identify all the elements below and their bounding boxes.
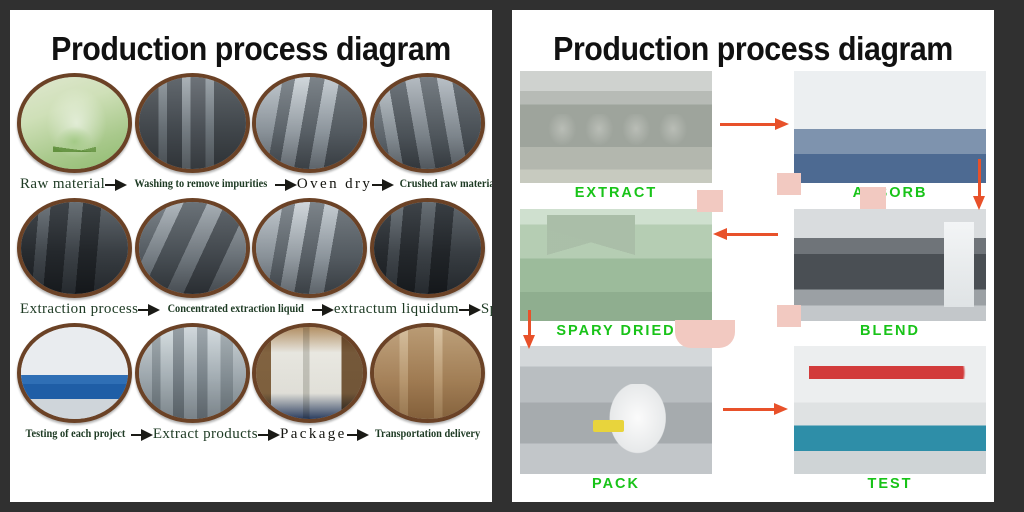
process-step-extract-products[interactable]	[134, 323, 252, 423]
process-row-2	[16, 198, 486, 298]
caption-crushed: Crushed raw materials	[400, 179, 492, 191]
caption-row-3: Testing of each project Extract products…	[16, 427, 486, 442]
concentration-tanks-photo	[139, 202, 246, 294]
caption-absorb: ABSORB	[794, 183, 986, 207]
evaporator-photo	[256, 202, 363, 294]
oval-frame	[135, 73, 250, 173]
arrow-spary-to-pack	[528, 310, 531, 336]
extraction-plant-photo	[21, 202, 128, 294]
arrow-right-icon	[258, 428, 280, 442]
absorption-columns-photo	[794, 71, 986, 183]
arrow-absorb-to-blend	[978, 159, 981, 197]
caption-spray-drying: Spray drying	[481, 302, 492, 317]
oval-frame	[17, 73, 132, 173]
arrow-extract-to-absorb	[720, 123, 776, 126]
oval-frame	[252, 73, 367, 173]
right-step-extract[interactable]: EXTRACT	[520, 71, 712, 207]
arrow-right-icon	[459, 303, 481, 317]
caption-extract-products: Extract products	[153, 427, 258, 442]
process-step-transportation[interactable]	[369, 323, 487, 423]
arrow-pack-to-test	[723, 408, 775, 411]
caption-row-2: Extraction process Concentrated extracti…	[16, 302, 486, 317]
oval-frame	[135, 198, 250, 298]
caption-transportation: Transportation delivery	[375, 429, 480, 441]
oven-dryer-photo	[256, 77, 363, 169]
process-step-extraction[interactable]	[16, 198, 134, 298]
right-step-blend[interactable]: BLEND	[794, 209, 986, 345]
laboratory-bench-photo	[21, 327, 128, 419]
oval-frame	[252, 198, 367, 298]
caption-extraction-process: Extraction process	[20, 302, 138, 317]
crushing-line-photo	[374, 77, 481, 169]
arrow-right-icon	[275, 178, 297, 192]
process-row-3	[16, 323, 486, 423]
product-drums-photo	[139, 327, 246, 419]
oval-frame	[135, 323, 250, 423]
spray-dryer-tower-photo	[520, 209, 712, 321]
process-step-washing[interactable]	[134, 73, 252, 173]
palletized-cartons-photo	[374, 327, 481, 419]
right-row-2: SPARY DRIED BLEND	[520, 209, 986, 345]
right-panel-title: Production process diagram	[531, 10, 974, 65]
process-step-crushed[interactable]	[369, 73, 487, 173]
oval-frame	[370, 73, 485, 173]
packing-operator-photo	[520, 346, 712, 474]
caption-concentrated-liquid: Concentrated extraction liquid	[168, 304, 304, 316]
caption-extract: EXTRACT	[520, 183, 712, 207]
process-step-concentrated[interactable]	[134, 198, 252, 298]
residual-block	[777, 173, 801, 195]
quality-lab-photo	[794, 346, 986, 474]
caption-row-1: Raw material Washing to remove impuritie…	[16, 177, 486, 192]
panel-divider	[492, 0, 512, 512]
washing-tanks-photo	[139, 77, 246, 169]
arrow-right-icon	[347, 428, 369, 442]
right-process-panel: Production process diagram EXTRACT ABSOR…	[512, 10, 994, 502]
right-photo-grid: EXTRACT ABSORB SPARY DRIED BLEND	[512, 65, 994, 498]
left-oval-grid: Raw material Washing to remove impuritie…	[10, 65, 492, 442]
right-row-1: EXTRACT ABSORB	[520, 71, 986, 207]
packaging-bags-photo	[256, 327, 363, 419]
residual-block	[777, 305, 801, 327]
left-panel-title: Production process diagram	[29, 10, 472, 65]
arrow-right-icon	[372, 178, 394, 192]
residual-block	[675, 320, 735, 348]
process-step-oven-dry[interactable]	[251, 73, 369, 173]
oval-frame	[17, 323, 132, 423]
spray-dryer-photo	[374, 202, 481, 294]
caption-test: TEST	[794, 474, 986, 498]
process-step-raw-material[interactable]	[16, 73, 134, 173]
oval-frame	[252, 323, 367, 423]
oval-frame	[370, 323, 485, 423]
process-step-extractum[interactable]	[251, 198, 369, 298]
residual-block	[697, 190, 723, 212]
process-step-spray-drying[interactable]	[369, 198, 487, 298]
caption-raw-material: Raw material	[20, 177, 105, 192]
arrow-right-icon	[105, 178, 127, 192]
caption-washing: Washing to remove impurities	[135, 179, 268, 191]
arrow-blend-to-spary	[726, 233, 778, 236]
process-step-testing[interactable]	[16, 323, 134, 423]
right-step-pack[interactable]: PACK	[520, 346, 712, 498]
caption-testing: Testing of each project	[26, 429, 126, 441]
screenshot-root: Production process diagram	[0, 0, 1024, 512]
arrow-right-icon	[138, 303, 160, 317]
arrow-right-icon	[312, 303, 334, 317]
caption-oven-dry: Oven dry	[297, 177, 372, 192]
oval-frame	[17, 198, 132, 298]
caption-pack: PACK	[520, 474, 712, 498]
caption-package: Package	[280, 427, 347, 442]
oval-frame	[370, 198, 485, 298]
caption-blend: BLEND	[794, 321, 986, 345]
residual-block	[860, 187, 886, 209]
raw-plant-extract-flask-photo	[21, 77, 128, 169]
arrow-right-icon	[131, 428, 153, 442]
process-step-package[interactable]	[251, 323, 369, 423]
extraction-vessels-photo	[520, 71, 712, 183]
blending-machine-photo	[794, 209, 986, 321]
right-row-3: PACK TEST	[520, 346, 986, 498]
right-step-test[interactable]: TEST	[794, 346, 986, 498]
right-step-absorb[interactable]: ABSORB	[794, 71, 986, 207]
caption-extractum-liquidum: extractum liquidum	[334, 302, 459, 317]
process-row-1	[16, 73, 486, 173]
left-process-panel: Production process diagram	[10, 10, 492, 502]
